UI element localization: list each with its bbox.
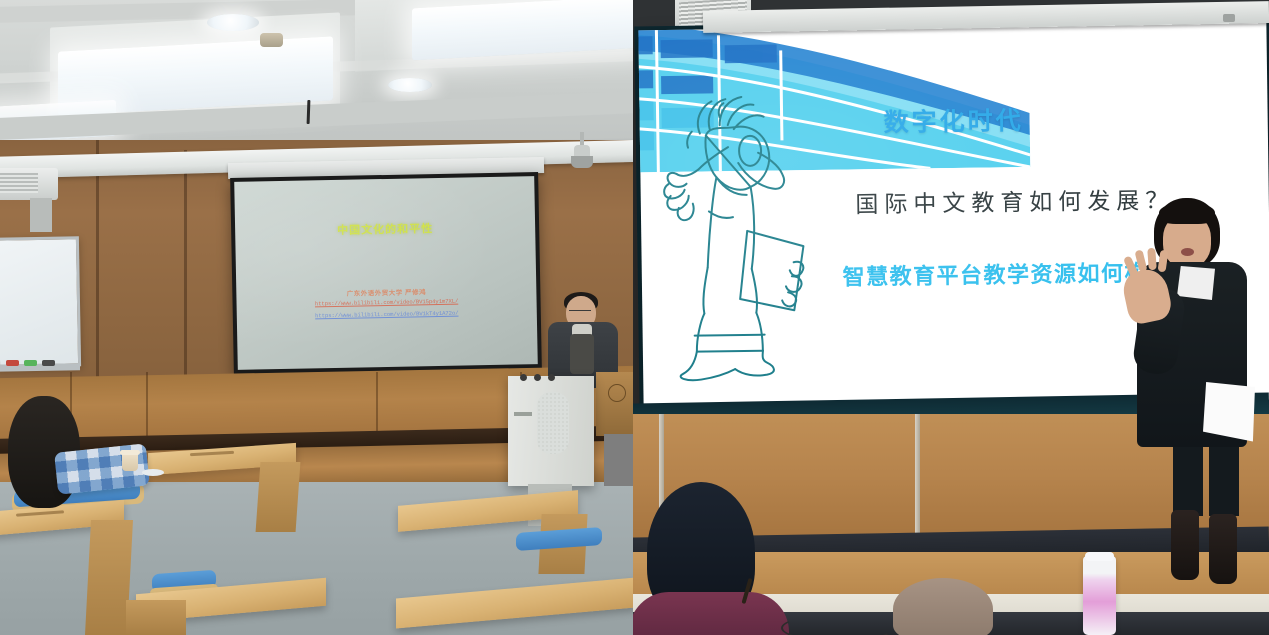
glasses-icon — [569, 310, 591, 316]
marker-icon — [24, 360, 37, 366]
rail-button-icon[interactable] — [1223, 14, 1235, 22]
presenter-boot — [1209, 514, 1237, 584]
audience-member-body — [633, 592, 789, 635]
right-frame-presenter: 数字化时代 国际中文教育如何发展？ 智慧教育平台教学资源如何构建？ — [633, 0, 1269, 635]
desk-side-panel — [126, 600, 186, 635]
slide-title: 中国文化的和平性 — [235, 218, 535, 240]
saucer — [142, 469, 164, 476]
marker-icon — [42, 360, 55, 366]
smoke-detector-icon — [260, 33, 283, 47]
presenter-bangs — [1159, 202, 1215, 224]
presenter-leg — [1209, 442, 1239, 516]
projector-mount — [30, 198, 52, 232]
presenter-boot — [1171, 510, 1199, 580]
podium-speaker-grille — [537, 392, 569, 454]
camera-head — [571, 156, 593, 168]
slide-link-2[interactable]: https://www.bilibili.com/video/BV1kT4y1A… — [237, 308, 537, 321]
wainscot-seam — [146, 372, 148, 444]
marker-icon — [6, 360, 19, 366]
projection-screen: 中国文化的和平性 广东外语外贸大学 严修鸿 https://www.bilibi… — [230, 172, 542, 374]
screen-glare — [234, 176, 538, 370]
recessed-downlight — [207, 14, 259, 31]
presenter-mouth — [1181, 248, 1194, 256]
slide-surface: 中国文化的和平性 广东外语外贸大学 严修鸿 https://www.bilibi… — [234, 176, 538, 370]
presenter-finger — [1147, 248, 1157, 271]
water-bottle — [1083, 556, 1116, 635]
cup-lid — [120, 450, 140, 455]
lectern-base — [604, 434, 633, 486]
wall-seam — [184, 150, 187, 380]
audience-member-cap — [893, 578, 993, 635]
presenter-collar — [1177, 266, 1215, 300]
podium-control-icon[interactable] — [520, 374, 527, 381]
whiteboard — [0, 236, 81, 367]
ceiling-projector-icon — [0, 168, 58, 200]
recessed-downlight — [388, 78, 432, 92]
desk-side-panel — [256, 462, 301, 532]
podium-control-icon[interactable] — [548, 374, 555, 381]
cable — [781, 614, 895, 635]
podium-control-icon[interactable] — [534, 374, 541, 381]
slide-title: 数字化时代 — [639, 98, 1267, 143]
wall-metal-strip — [915, 414, 920, 544]
presenter-figure — [1131, 192, 1269, 635]
wooden-lectern — [596, 372, 633, 436]
podium-brand-label — [514, 412, 532, 416]
lectern-emblem-icon — [608, 384, 626, 402]
bottle-cap — [1085, 552, 1114, 561]
screenshot-root: 中国文化的和平性 广东外语外贸大学 严修鸿 https://www.bilibi… — [0, 0, 1269, 635]
left-frame-lecture-hall: 中国文化的和平性 广东外语外贸大学 严修鸿 https://www.bilibi… — [0, 0, 633, 635]
presenter-leg — [1173, 442, 1203, 516]
